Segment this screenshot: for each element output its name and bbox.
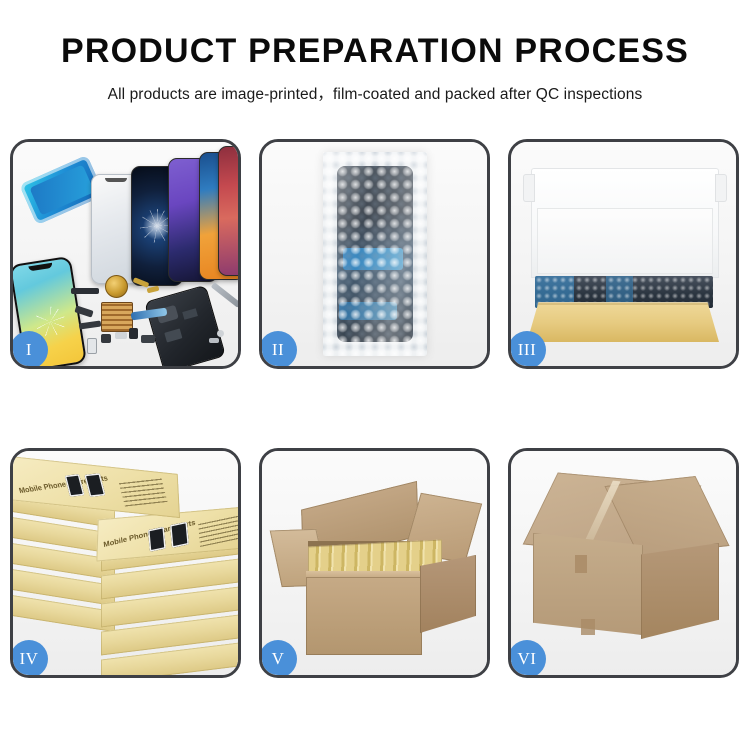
process-step-panel-4[interactable]: Mobile Phone Spare Parts Mobile Phone Sp… [10, 448, 241, 678]
small-part [79, 320, 102, 329]
small-part [217, 330, 224, 337]
foam-liner [537, 208, 713, 274]
spec-text-lines [118, 476, 167, 507]
step-badge-6: VI [508, 640, 546, 678]
carton-side-face [420, 555, 476, 633]
small-part [129, 328, 138, 339]
step-6-image [511, 451, 736, 675]
carton-front-face [306, 577, 422, 655]
small-part [209, 338, 219, 343]
process-step-grid: I II III [10, 139, 740, 679]
small-part [141, 335, 155, 343]
phone-thumbnail-print [148, 527, 166, 552]
kraft-box-tray [527, 302, 719, 342]
process-step-panel-5[interactable]: V [259, 448, 490, 678]
plastic-sheen [323, 152, 427, 356]
process-step-panel-6[interactable]: VI [508, 448, 739, 678]
retail-box-stack: Mobile Phone Spare Parts Mobile Phone Sp… [13, 451, 238, 675]
step-badge-5: V [259, 640, 297, 678]
gold-connector-part [147, 286, 160, 294]
small-part [115, 332, 127, 339]
carton-side-face [641, 543, 719, 639]
tweezers-tool-icon [211, 282, 238, 308]
step-badge-1: I [10, 331, 48, 369]
small-part [101, 334, 111, 343]
chip-grid-part [101, 302, 133, 332]
phone-backplate-part [144, 285, 226, 366]
battery-part [87, 338, 97, 354]
step-badge-4: IV [10, 640, 48, 678]
phone-thumbnail-print [170, 522, 189, 548]
bubble-wrap-pouch [323, 152, 427, 356]
carton-tape-tab [575, 555, 587, 573]
step-2-image [262, 142, 487, 366]
page-title: PRODUCT PREPARATION PROCESS [0, 34, 750, 70]
step-badge-2: II [259, 331, 297, 369]
speaker-strip-part [71, 288, 99, 294]
step-4-image: Mobile Phone Spare Parts Mobile Phone Sp… [13, 451, 238, 675]
process-step-panel-2[interactable]: II [259, 139, 490, 369]
process-step-panel-1[interactable]: I [10, 139, 241, 369]
carton-tape-tab [581, 619, 595, 635]
red-phone-display [218, 146, 238, 276]
page-header: PRODUCT PREPARATION PROCESS All products… [0, 0, 750, 104]
vibration-motor-part [105, 275, 128, 298]
step-1-image [13, 142, 238, 366]
step-5-image [262, 451, 487, 675]
step-3-image [511, 142, 736, 366]
process-step-panel-3[interactable]: III [508, 139, 739, 369]
spec-text-lines [198, 512, 238, 547]
step-badge-3: III [508, 331, 546, 369]
page-subtitle: All products are image-printed，film-coat… [0, 82, 750, 104]
